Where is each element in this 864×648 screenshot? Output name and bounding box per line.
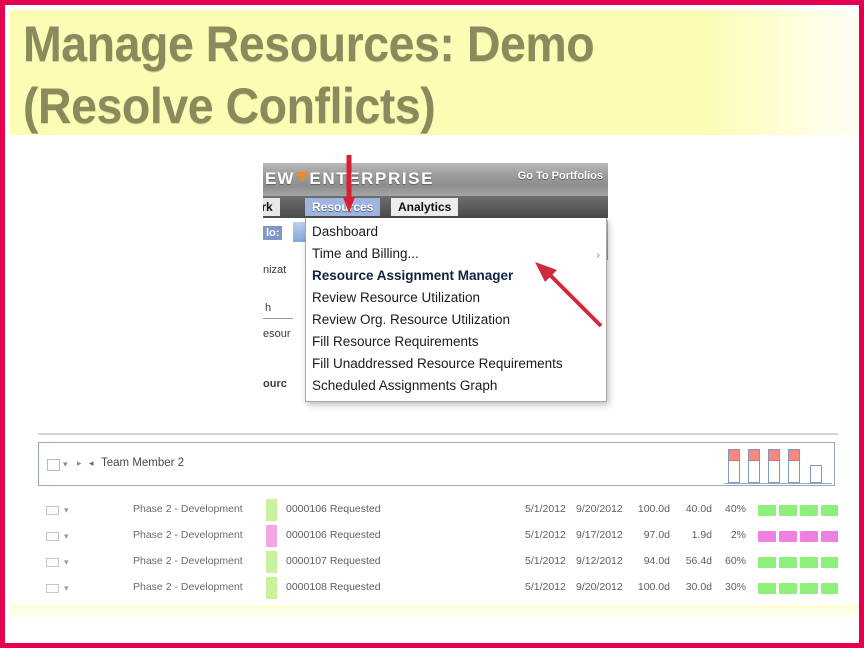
menu-item-label: Fill Resource Requirements — [312, 334, 479, 349]
row-start-date: 5/1/2012 — [525, 503, 566, 515]
go-to-portfolios-link[interactable]: Go To Portfolios — [518, 170, 603, 182]
row-id-status: 0000106 Requested — [286, 529, 381, 541]
group-label: Team Member 2 — [101, 457, 184, 469]
brand-name: ENTERPRISE — [309, 169, 434, 188]
row-percent: 40% — [716, 503, 746, 515]
row-percent: 2% — [716, 529, 746, 541]
brand-prefix: EW — [265, 169, 294, 188]
row-allocated-days: 1.9d — [674, 529, 712, 541]
annotation-arrow-down-icon — [342, 153, 356, 213]
app-tab-row: ork Resources Analytics — [263, 196, 608, 218]
row-phase: Phase 2 - Development — [133, 581, 243, 593]
annotation-arrow-diagonal-icon — [527, 260, 609, 332]
group-row-team-member[interactable]: ▾ ▸ ◂ Team Member 2 — [38, 442, 835, 486]
utilization-bar — [768, 449, 780, 483]
group-collapse-triangle-icon[interactable]: ▸ — [77, 458, 82, 469]
row-dropdown-caret-icon[interactable]: ▾ — [64, 583, 69, 594]
row-checkbox[interactable] — [46, 584, 59, 593]
row-finish-date: 9/20/2012 — [576, 581, 623, 593]
utilization-bar — [748, 449, 760, 483]
table-row[interactable]: ▾ Phase 2 - Development 0000106 Requeste… — [38, 522, 838, 551]
slide-page: Manage Resources: Demo (Resolve Conflict… — [0, 0, 864, 648]
row-total-days: 97.0d — [630, 529, 670, 541]
row-gantt-bar — [758, 505, 838, 516]
bottom-tint-band — [10, 605, 864, 619]
menu-item-label: Scheduled Assignments Graph — [312, 378, 497, 393]
tab-analytics[interactable]: Analytics — [391, 198, 458, 216]
row-start-date: 5/1/2012 — [525, 581, 566, 593]
row-gantt-bar — [758, 557, 838, 568]
menu-item-scheduled-assignments-graph[interactable]: Scheduled Assignments Graph — [306, 375, 606, 397]
menu-item-label: Resource Assignment Manager — [312, 268, 513, 283]
row-allocated-days: 56.4d — [674, 555, 712, 567]
fragment-organization: nizat — [263, 264, 286, 276]
menu-item-label: Dashboard — [312, 224, 378, 239]
row-phase: Phase 2 - Development — [133, 529, 243, 541]
page-title: Manage Resources: Demo (Resolve Conflict… — [23, 13, 767, 137]
row-start-date: 5/1/2012 — [525, 555, 566, 567]
row-checkbox[interactable] — [46, 532, 59, 541]
app-header-bar: EWENTERPRISE Go To Portfolios — [263, 163, 608, 196]
fragment-graph: h — [265, 302, 271, 314]
grid-top-border — [38, 434, 838, 435]
row-phase: Phase 2 - Development — [133, 555, 243, 567]
menu-item-label: Time and Billing... — [312, 246, 419, 261]
table-row[interactable]: ▾ Phase 2 - Development 0000107 Requeste… — [38, 548, 838, 577]
background-divider — [263, 318, 293, 319]
utilization-bar — [728, 449, 740, 483]
table-row[interactable]: ▾ Phase 2 - Development 0000106 Requeste… — [38, 496, 838, 525]
group-dropdown-caret-icon[interactable]: ▾ — [63, 459, 68, 470]
chart-baseline — [724, 483, 832, 484]
fragment-resource-b: ourc — [263, 378, 287, 390]
row-color-swatch — [266, 525, 277, 547]
menu-item-label: Review Resource Utilization — [312, 290, 480, 305]
logo-triangle-icon — [296, 172, 308, 182]
row-percent: 30% — [716, 581, 746, 593]
menu-item-label: Fill Unaddressed Resource Requirements — [312, 356, 563, 371]
fragment-resource-a: esour — [263, 328, 291, 340]
menu-item-label: Review Org. Resource Utilization — [312, 312, 510, 327]
row-total-days: 94.0d — [630, 555, 670, 567]
row-id-status: 0000107 Requested — [286, 555, 381, 567]
row-finish-date: 9/17/2012 — [576, 529, 623, 541]
row-dropdown-caret-icon[interactable]: ▾ — [64, 531, 69, 542]
row-total-days: 100.0d — [630, 503, 670, 515]
group-checkbox[interactable] — [47, 459, 60, 471]
group-expand-triangle-icon[interactable]: ◂ — [89, 458, 94, 469]
row-dropdown-caret-icon[interactable]: ▾ — [64, 505, 69, 516]
utilization-bar — [810, 465, 822, 483]
menu-item-fill-resource-requirements[interactable]: Fill Resource Requirements — [306, 331, 606, 353]
row-start-date: 5/1/2012 — [525, 529, 566, 541]
row-finish-date: 9/20/2012 — [576, 503, 623, 515]
tab-work[interactable]: ork — [263, 198, 280, 216]
row-color-swatch — [266, 551, 277, 573]
row-id-status: 0000106 Requested — [286, 503, 381, 515]
row-id-status: 0000108 Requested — [286, 581, 381, 593]
row-gantt-bar — [758, 583, 838, 594]
row-color-swatch — [266, 577, 277, 599]
row-gantt-bar — [758, 531, 838, 542]
table-row[interactable]: ▾ Phase 2 - Development 0000108 Requeste… — [38, 574, 838, 603]
row-allocated-days: 30.0d — [674, 581, 712, 593]
row-allocated-days: 40.0d — [674, 503, 712, 515]
row-total-days: 100.0d — [630, 581, 670, 593]
fragment-portfolio-label: lo: — [263, 226, 282, 240]
row-checkbox[interactable] — [46, 506, 59, 515]
row-color-swatch — [266, 499, 277, 521]
row-dropdown-caret-icon[interactable]: ▾ — [64, 557, 69, 568]
row-phase: Phase 2 - Development — [133, 503, 243, 515]
row-percent: 60% — [716, 555, 746, 567]
utilization-bar — [788, 449, 800, 483]
menu-item-fill-unaddressed-resource-requirements[interactable]: Fill Unaddressed Resource Requirements — [306, 353, 606, 375]
row-finish-date: 9/12/2012 — [576, 555, 623, 567]
menu-item-dashboard[interactable]: Dashboard — [306, 221, 606, 243]
row-checkbox[interactable] — [46, 558, 59, 567]
utilization-bar-chart — [724, 444, 832, 485]
resource-assignment-grid: ▾ ▸ ◂ Team Member 2 ▾ Phase 2 - Developm… — [38, 433, 838, 606]
